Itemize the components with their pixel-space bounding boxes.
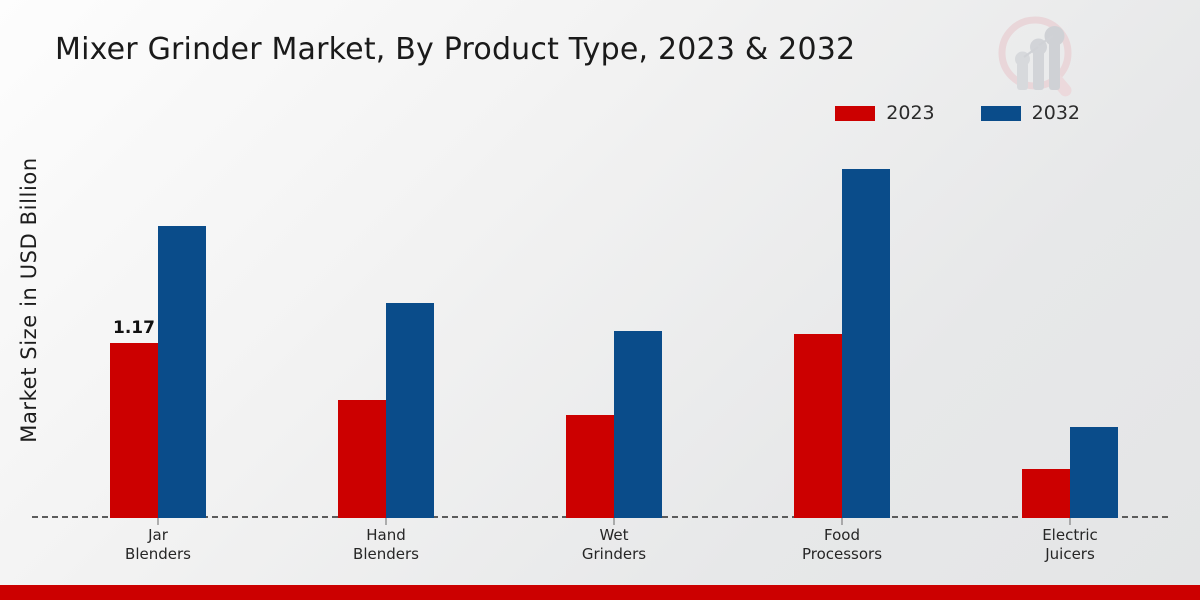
- x-axis-category-line: Hand: [306, 526, 466, 545]
- legend-swatch-2032: [981, 106, 1021, 121]
- x-axis-category-line: Processors: [762, 545, 922, 564]
- bars-wrap: [794, 130, 890, 518]
- bar-group: HandBlenders: [338, 130, 434, 518]
- bar-2023-2[interactable]: [566, 415, 614, 518]
- x-axis-category-line: Grinders: [534, 545, 694, 564]
- x-axis-category-line: Blenders: [78, 545, 238, 564]
- bar-group: WetGrinders: [566, 130, 662, 518]
- x-axis-category-label: FoodProcessors: [762, 526, 922, 564]
- bar-2023-0[interactable]: 1.17: [110, 343, 158, 518]
- bar-group: 1.17JarBlenders: [110, 130, 206, 518]
- magnifier-bar-chart-logo-icon: [993, 12, 1085, 104]
- bar-group: ElectricJuicers: [1022, 130, 1118, 518]
- legend-swatch-2023: [835, 106, 875, 121]
- x-axis-category-line: Food: [762, 526, 922, 545]
- axis-tick: [614, 518, 615, 525]
- x-axis-category-label: JarBlenders: [78, 526, 238, 564]
- legend-label-2023: 2023: [886, 104, 934, 123]
- bar-2023-4[interactable]: [1022, 469, 1070, 518]
- bar-2023-1[interactable]: [338, 400, 386, 518]
- x-axis-category-label: ElectricJuicers: [990, 526, 1150, 564]
- bars-wrap: [338, 130, 434, 518]
- legend-item-2023[interactable]: 2023: [835, 104, 934, 123]
- bar-2023-3[interactable]: [794, 334, 842, 518]
- plot-area: 1.17JarBlendersHandBlendersWetGrindersFo…: [32, 130, 1168, 518]
- bars-wrap: [1022, 130, 1118, 518]
- x-axis-category-line: Electric: [990, 526, 1150, 545]
- bar-2032-0[interactable]: [158, 226, 206, 518]
- axis-tick: [386, 518, 387, 525]
- x-axis-category-line: Jar: [78, 526, 238, 545]
- chart-legend: 2023 2032: [835, 104, 1080, 123]
- bar-group: FoodProcessors: [794, 130, 890, 518]
- x-axis-category-line: Wet: [534, 526, 694, 545]
- chart-container: Mixer Grinder Market, By Product Type, 2…: [0, 0, 1200, 600]
- bar-value-label: 1.17: [113, 318, 155, 338]
- bars-wrap: 1.17: [110, 130, 206, 518]
- axis-tick: [158, 518, 159, 525]
- bar-2032-4[interactable]: [1070, 427, 1118, 518]
- bottom-accent-bar: [0, 585, 1200, 600]
- axis-tick: [1070, 518, 1071, 525]
- legend-item-2032[interactable]: 2032: [981, 104, 1080, 123]
- x-axis-category-label: WetGrinders: [534, 526, 694, 564]
- bars-wrap: [566, 130, 662, 518]
- x-axis-category-line: Blenders: [306, 545, 466, 564]
- axis-tick: [842, 518, 843, 525]
- bar-2032-3[interactable]: [842, 169, 890, 518]
- page-title: Mixer Grinder Market, By Product Type, 2…: [55, 32, 855, 67]
- x-axis-category-label: HandBlenders: [306, 526, 466, 564]
- bar-2032-2[interactable]: [614, 331, 662, 518]
- x-axis-category-line: Juicers: [990, 545, 1150, 564]
- legend-label-2032: 2032: [1032, 104, 1080, 123]
- bar-2032-1[interactable]: [386, 303, 434, 518]
